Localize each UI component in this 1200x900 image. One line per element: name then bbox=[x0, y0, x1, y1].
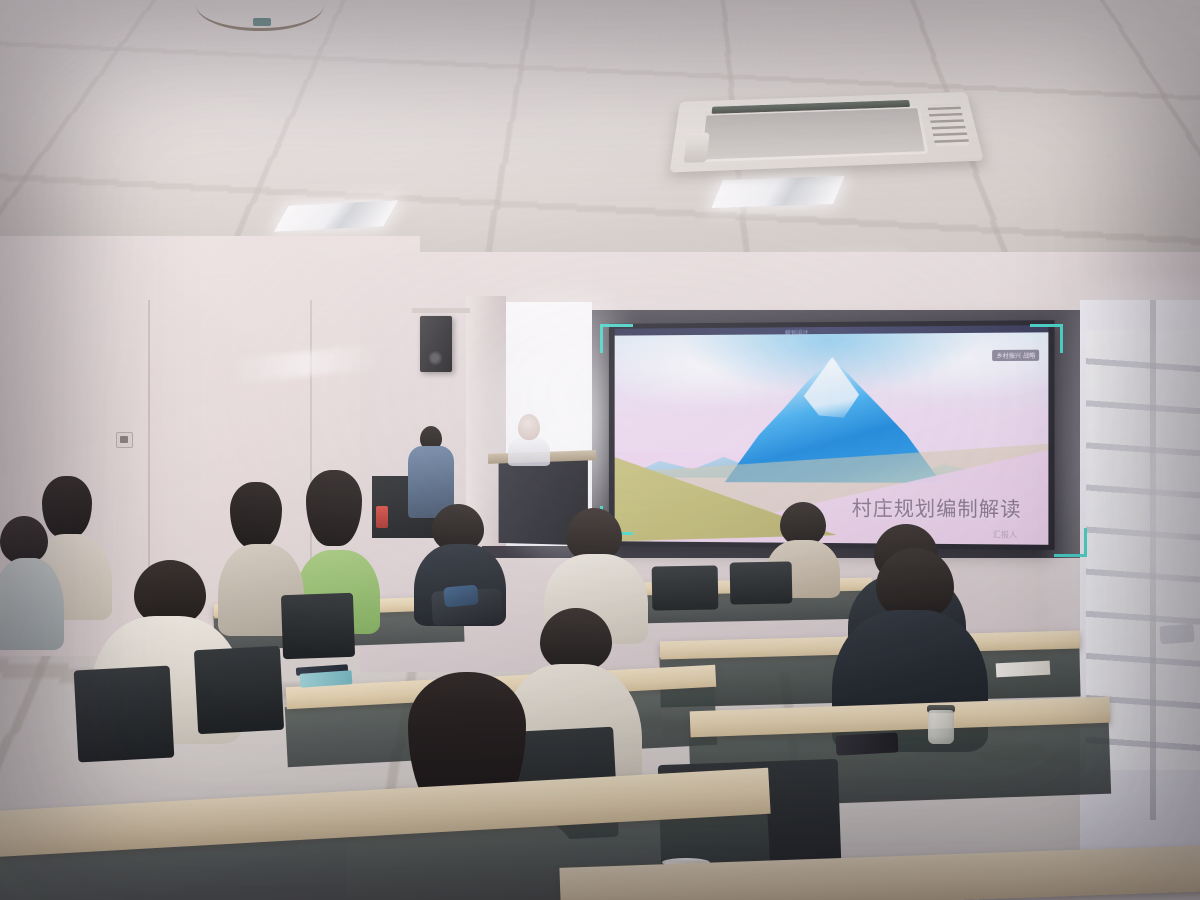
bag-accent bbox=[443, 585, 479, 608]
person-head bbox=[540, 608, 612, 672]
screen-corner-bracket-icon bbox=[600, 324, 633, 353]
window-bracket-device bbox=[1159, 624, 1194, 644]
chair[interactable] bbox=[281, 593, 355, 659]
paper-sheet bbox=[996, 661, 1051, 678]
wall-seam bbox=[148, 300, 150, 600]
ac-corner-panel bbox=[683, 133, 709, 163]
chair[interactable] bbox=[74, 666, 175, 763]
person-head-long-hair bbox=[230, 482, 282, 548]
slide-subtitle: 汇报人 bbox=[993, 529, 1018, 540]
ceiling-light-panel bbox=[711, 176, 844, 208]
wall-outlet bbox=[116, 432, 133, 448]
presenter-head bbox=[518, 414, 540, 440]
screen-corner-bracket-icon bbox=[1054, 528, 1087, 557]
glass-jar bbox=[928, 710, 954, 744]
chair[interactable] bbox=[652, 565, 719, 610]
ac-side-vent bbox=[927, 103, 970, 147]
chair[interactable] bbox=[730, 561, 793, 604]
audience-person bbox=[0, 516, 64, 648]
cable-tag bbox=[253, 18, 271, 26]
person-torso bbox=[0, 558, 64, 650]
wall-speaker bbox=[420, 316, 452, 372]
person-head bbox=[0, 516, 48, 564]
slide-tag-top-left: 规划设计 bbox=[785, 328, 809, 337]
person-head-long-hair bbox=[306, 470, 362, 546]
ceiling-air-conditioner bbox=[669, 92, 983, 173]
ac-intake-grille bbox=[698, 106, 928, 163]
screen-corner-bracket-icon bbox=[1030, 324, 1063, 353]
dark-device bbox=[836, 732, 899, 755]
window-mullion bbox=[1150, 300, 1156, 820]
chair[interactable] bbox=[194, 646, 284, 734]
classroom-photo: 规划设计 乡村振兴 战略 村庄规划编制解读 汇报人 bbox=[0, 0, 1200, 900]
speaker-mount-rail bbox=[412, 308, 470, 313]
presenter-body bbox=[508, 436, 550, 466]
slide-title: 村庄规划编制解读 bbox=[852, 493, 1022, 523]
